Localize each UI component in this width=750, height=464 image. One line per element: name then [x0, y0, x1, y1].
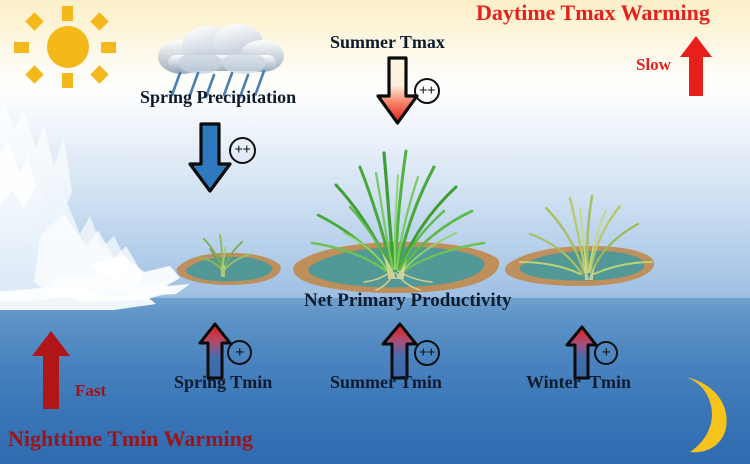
badge-summer-tmin: ++ — [414, 340, 440, 366]
label-winter-tmin: Winter Tmin — [526, 373, 631, 391]
label-summer-tmax: Summer Tmax — [330, 33, 445, 51]
label-net-primary-productivity: Net Primary Productivity — [304, 291, 512, 310]
sun-ray-w — [14, 42, 29, 53]
sun-ray-sw — [25, 65, 43, 83]
vegetation-medium-grass-clump — [500, 190, 658, 295]
sun-ray-nw — [25, 12, 43, 30]
badge-spring-precipitation: ++ — [229, 137, 256, 164]
label-summer-tmin: Summer Tmin — [330, 373, 442, 391]
diagram-canvas: ++ Spring Precipitation ++ Summer Tmax D… — [0, 0, 750, 464]
sun-icon — [14, 6, 116, 88]
vegetation-small-grass-clump — [172, 225, 290, 295]
badge-summer-tmax: ++ — [414, 78, 440, 104]
arrow-spring-precipitation — [187, 122, 233, 194]
sun-ray-se — [90, 65, 108, 83]
moon-icon — [664, 374, 738, 456]
arrow-slow-warming — [679, 35, 713, 97]
badge-winter-tmin: + — [594, 341, 618, 365]
label-spring-precipitation: Spring Precipitation — [140, 88, 296, 106]
vegetation-large-grass-clump — [286, 145, 511, 300]
badge-spring-tmin: + — [227, 340, 252, 365]
title-nighttime-tmin-warming: Nighttime Tmin Warming — [8, 428, 253, 450]
sun-ray-ne — [90, 12, 108, 30]
sun-ray-n — [62, 6, 73, 21]
label-slow: Slow — [636, 56, 671, 73]
title-daytime-tmax-warming: Daytime Tmax Warming — [476, 2, 710, 24]
label-fast: Fast — [75, 382, 106, 399]
sun-ray-e — [101, 42, 116, 53]
sun-ray-s — [62, 73, 73, 88]
arrow-fast-warming — [31, 330, 71, 410]
sun-core — [47, 26, 89, 68]
label-spring-tmin: Spring Tmin — [174, 373, 272, 391]
